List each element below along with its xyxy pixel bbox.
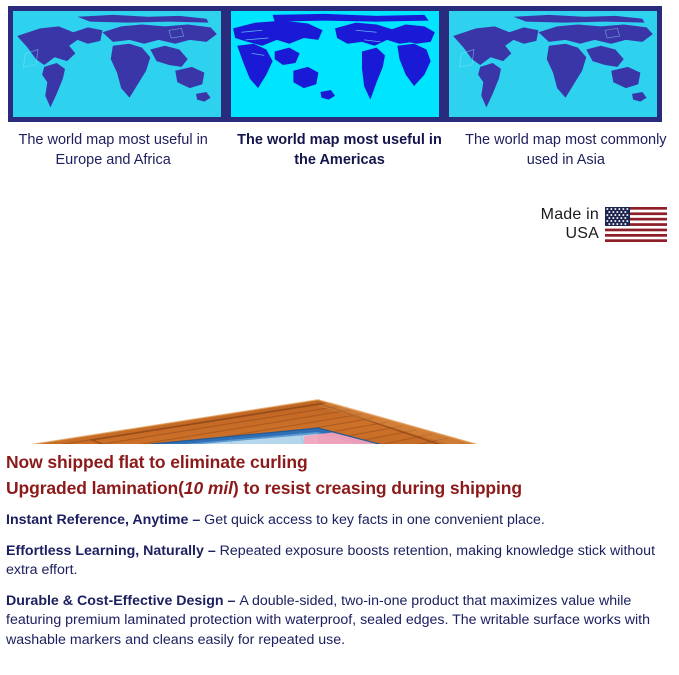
headline-2-emphasis: 10 mil	[184, 478, 233, 498]
bullet-2-dash: –	[204, 543, 220, 559]
map-captions-row: The world map most useful in Europe and …	[0, 130, 679, 192]
world-map-comparison-banner	[8, 6, 662, 122]
map-image-europe-africa	[13, 11, 221, 117]
bullet-1-lead: Instant Reference, Anytime	[6, 512, 188, 528]
bullet-1-text: Get quick access to key facts in one con…	[204, 512, 545, 528]
caption-europe-africa: The world map most useful in Europe and …	[0, 130, 226, 192]
headline-shipped-flat: Now shipped flat to eliminate curling	[6, 450, 674, 474]
map-image-americas	[231, 11, 439, 117]
map-thumbnail-asia[interactable]	[444, 6, 662, 122]
headline-upgraded-lamination: Upgraded lamination(10 mil) to resist cr…	[6, 476, 674, 500]
bullet-instant-reference: Instant Reference, Anytime – Get quick a…	[6, 511, 674, 531]
bullet-3-dash: –	[224, 593, 240, 609]
headline-1-text: Now shipped flat to eliminate curling	[6, 452, 308, 472]
product-photo-table-with-placemat	[0, 196, 679, 444]
bullet-1-dash: –	[188, 512, 204, 528]
marketing-copy: Now shipped flat to eliminate curling Up…	[6, 450, 674, 650]
headline-2-after: ) to resist creasing during shipping	[233, 478, 522, 498]
map-thumbnail-americas[interactable]	[226, 6, 444, 122]
bullet-2-lead: Effortless Learning, Naturally	[6, 543, 204, 559]
caption-asia: The world map most commonly used in Asia	[453, 130, 679, 192]
map-image-asia	[449, 11, 657, 117]
map-thumbnail-europe-africa[interactable]	[8, 6, 226, 122]
bullet-durable-cost-effective: Durable & Cost-Effective Design – A doub…	[6, 592, 674, 651]
caption-americas: The world map most useful in the America…	[226, 130, 452, 192]
bullet-effortless-learning: Effortless Learning, Naturally – Repeate…	[6, 542, 674, 581]
bullet-3-lead: Durable & Cost-Effective Design	[6, 593, 224, 609]
headline-2-before: Upgraded lamination(	[6, 478, 184, 498]
